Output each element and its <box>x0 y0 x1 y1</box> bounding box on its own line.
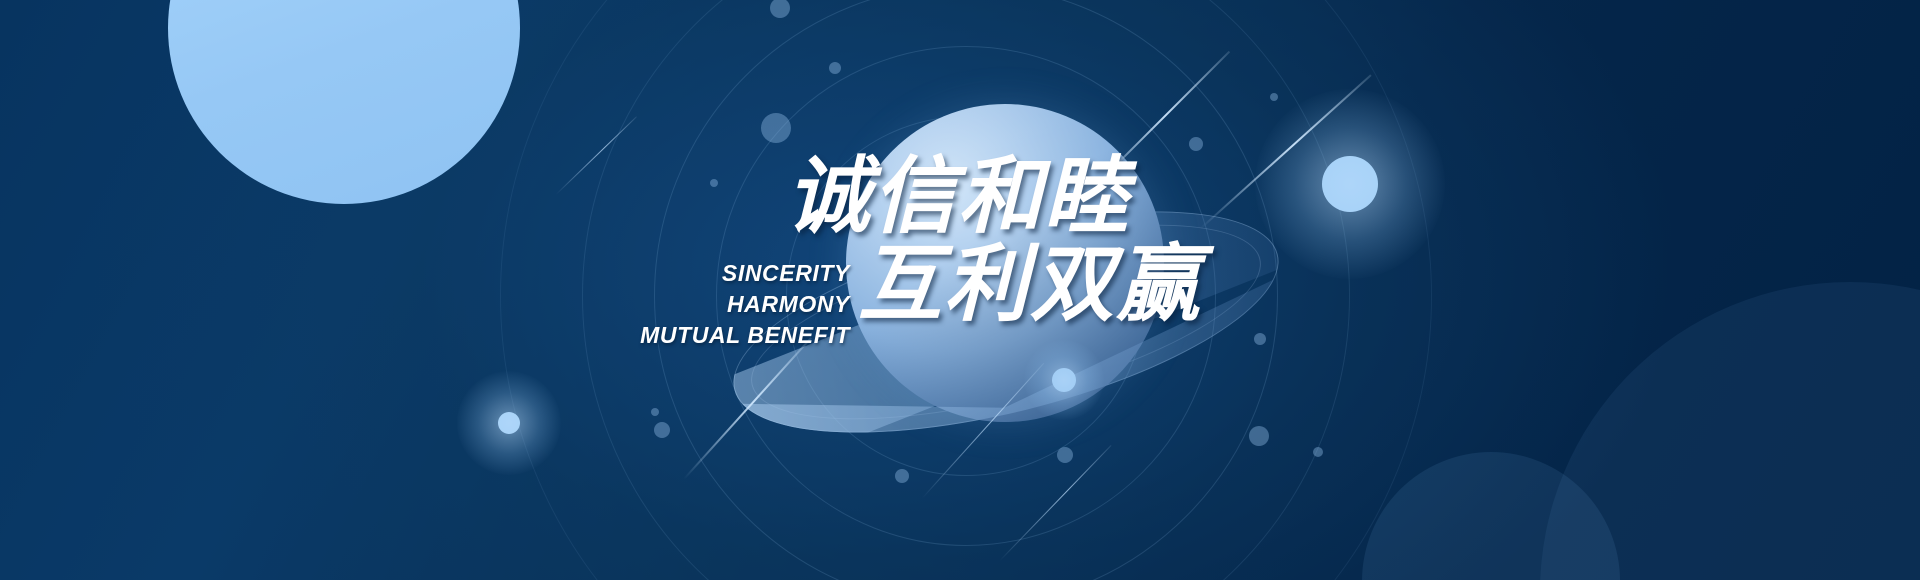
headline-line-1: 诚信和睦 <box>786 152 1202 240</box>
banner-copy: SINCERITY HARMONY MUTUAL BENEFIT 诚信和睦 互利… <box>0 0 1920 580</box>
hero-banner: SINCERITY HARMONY MUTUAL BENEFIT 诚信和睦 互利… <box>0 0 1920 580</box>
headline-line-2: 互利双赢 <box>858 240 1202 328</box>
chinese-headline: 诚信和睦 互利双赢 <box>786 152 1202 328</box>
